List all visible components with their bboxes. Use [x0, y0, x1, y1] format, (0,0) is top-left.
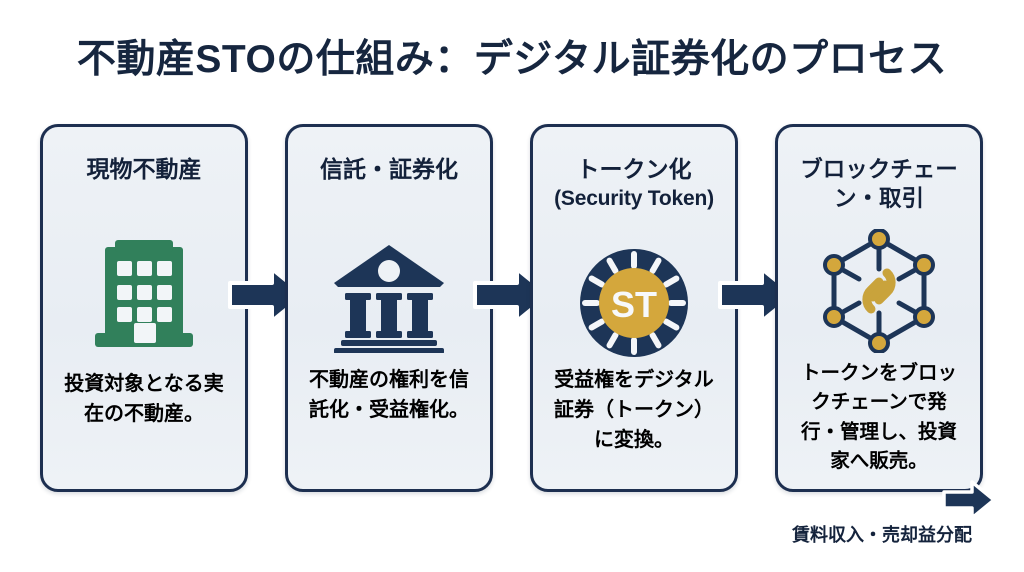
card-title: ブロックチェーン・取引	[784, 155, 974, 214]
card-title-main: トークン化	[577, 156, 692, 182]
card-description: トークンをブロックチェーンで発行・管理し、投資家へ販売。	[792, 359, 966, 476]
card-description: 不動産の権利を信託化・受益権化。	[302, 365, 476, 425]
footer-caption: 賃料収入・売却益分配	[762, 521, 1002, 547]
card-title-subtitle: (Security Token)	[539, 185, 729, 212]
blockchain-network-icon	[778, 227, 980, 355]
bank-institution-icon	[288, 233, 490, 361]
card-title: 現物不動産	[49, 155, 239, 185]
svg-text:ST: ST	[611, 284, 657, 325]
card-title: トークン化 (Security Token)	[539, 155, 729, 212]
process-step-card-tokenization: トークン化 (Security Token)	[530, 124, 738, 492]
diagram-canvas: 不動産STOの仕組み：デジタル証券化のプロセス 現物不動産	[0, 0, 1024, 572]
security-token-coin-icon: ST	[533, 239, 735, 367]
card-description: 投資対象となる実在の不動産。	[57, 369, 231, 429]
process-step-card-trust-securitization: 信託・証券化 不動産の	[285, 124, 493, 492]
page-title: 不動産STOの仕組み：デジタル証券化のプロセス	[0, 38, 1024, 82]
card-description: 受益権をデジタル証券（トークン）に変換。	[547, 365, 721, 455]
return-flow-arrow	[942, 480, 996, 520]
card-title: 信託・証券化	[294, 155, 484, 185]
office-building-icon	[43, 233, 245, 361]
process-step-card-blockchain-trading: ブロックチェーン・取引	[775, 124, 983, 492]
process-step-card-physical-real-estate: 現物不動産	[40, 124, 248, 492]
